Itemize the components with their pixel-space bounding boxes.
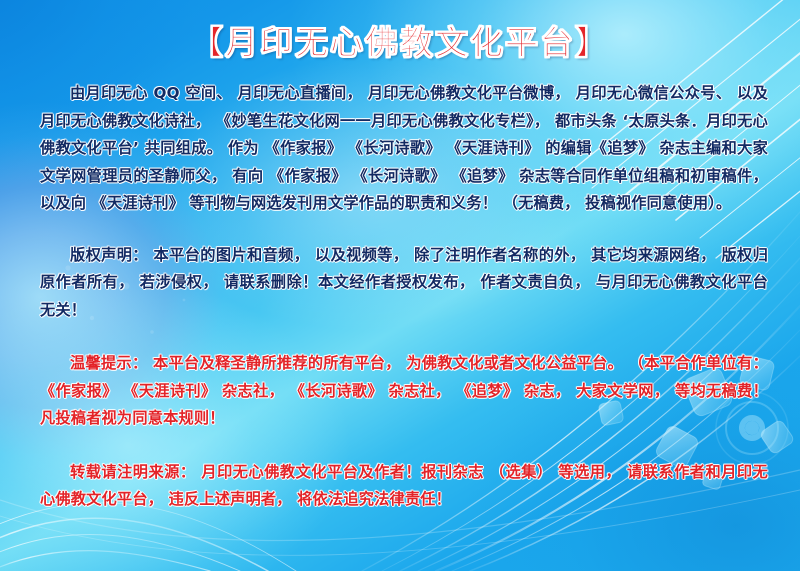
paragraph-intro: 由月印无心 QQ 空间、 月印无心直播间， 月印无心佛教文化平台微博， 月印无心… xyxy=(0,80,800,218)
paragraph-spacer xyxy=(0,433,800,459)
poster-body: 由月印无心 QQ 空间、 月印无心直播间， 月印无心佛教文化平台微博， 月印无心… xyxy=(0,80,800,514)
poster-canvas: 【月印无心佛教文化平台】 由月印无心 QQ 空间、 月印无心直播间， 月印无心佛… xyxy=(0,0,800,571)
poster-title-container: 【月印无心佛教文化平台】 xyxy=(0,16,800,64)
paragraph-spacer xyxy=(0,324,800,350)
paragraph-warm-tips: 温馨提示： 本平台及释圣静所推荐的所有平台， 为佛教文化或者文化公益平台。 （本… xyxy=(0,350,800,433)
paragraph-reprint-notice: 转载请注明来源： 月印无心佛教文化平台及作者！报刊杂志 （选集） 等选用， 请联… xyxy=(0,459,800,514)
paragraph-spacer xyxy=(0,218,800,242)
paragraph-copyright-statement: 版权声明： 本平台的图片和音频， 以及视频等， 除了注明作者名称的外， 其它均来… xyxy=(0,242,800,325)
page-title: 【月印无心佛教文化平台】 xyxy=(190,16,610,64)
